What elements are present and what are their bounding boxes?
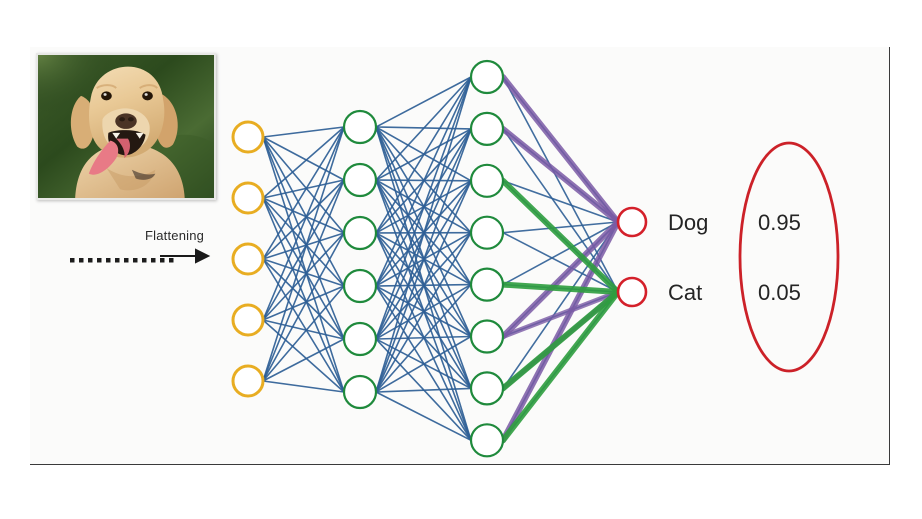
output-value-cat: 0.05 [758,280,801,306]
output-label-dog: Dog [668,210,708,236]
output-label-cat: Cat [668,280,702,306]
flattening-label: Flattening [145,228,204,243]
dog-photograph [36,53,216,200]
output-value-dog: 0.95 [758,210,801,236]
slide-canvas: Flattening Dog Cat 0.95 0.05 [0,0,922,519]
dog-photo-art [38,55,214,198]
